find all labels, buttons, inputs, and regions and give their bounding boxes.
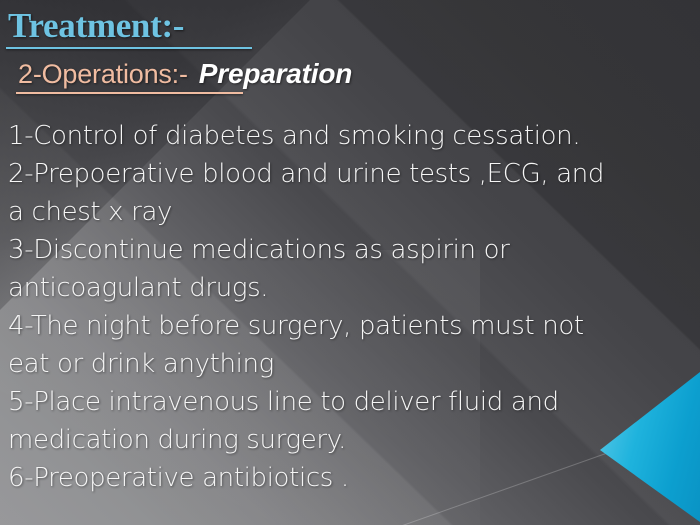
slide-title-underline — [6, 47, 252, 49]
slide-body-list: 1-Control of diabetes and smoking cessat… — [8, 117, 698, 497]
slide-title: Treatment:- — [8, 8, 184, 43]
presentation-slide: Treatment:- 2-Operations:- Preparation 1… — [0, 0, 700, 525]
slide-subtitle-underline — [16, 92, 243, 94]
body-line: 2-Prepoerative blood and urine tests ,EC… — [8, 155, 698, 193]
body-line: 1-Control of diabetes and smoking cessat… — [8, 117, 698, 155]
body-line: anticoagulant drugs. — [8, 269, 698, 307]
body-line: 5-Place intravenous line to deliver flui… — [8, 383, 698, 421]
body-line: eat or drink anything — [8, 345, 698, 383]
body-line: 3-Discontinue medications as aspirin or — [8, 231, 698, 269]
body-line: 6-Preoperative antibiotics . — [8, 459, 698, 497]
body-line: 4-The night before surgery, patients mus… — [8, 307, 698, 345]
slide-subtitle: 2-Operations:- Preparation — [18, 58, 352, 90]
body-line: medication during surgery. — [8, 421, 698, 459]
slide-subtitle-emphasis: Preparation — [199, 58, 352, 90]
body-line: a chest x ray — [8, 193, 698, 231]
slide-subtitle-label: 2-Operations:- — [18, 59, 188, 90]
